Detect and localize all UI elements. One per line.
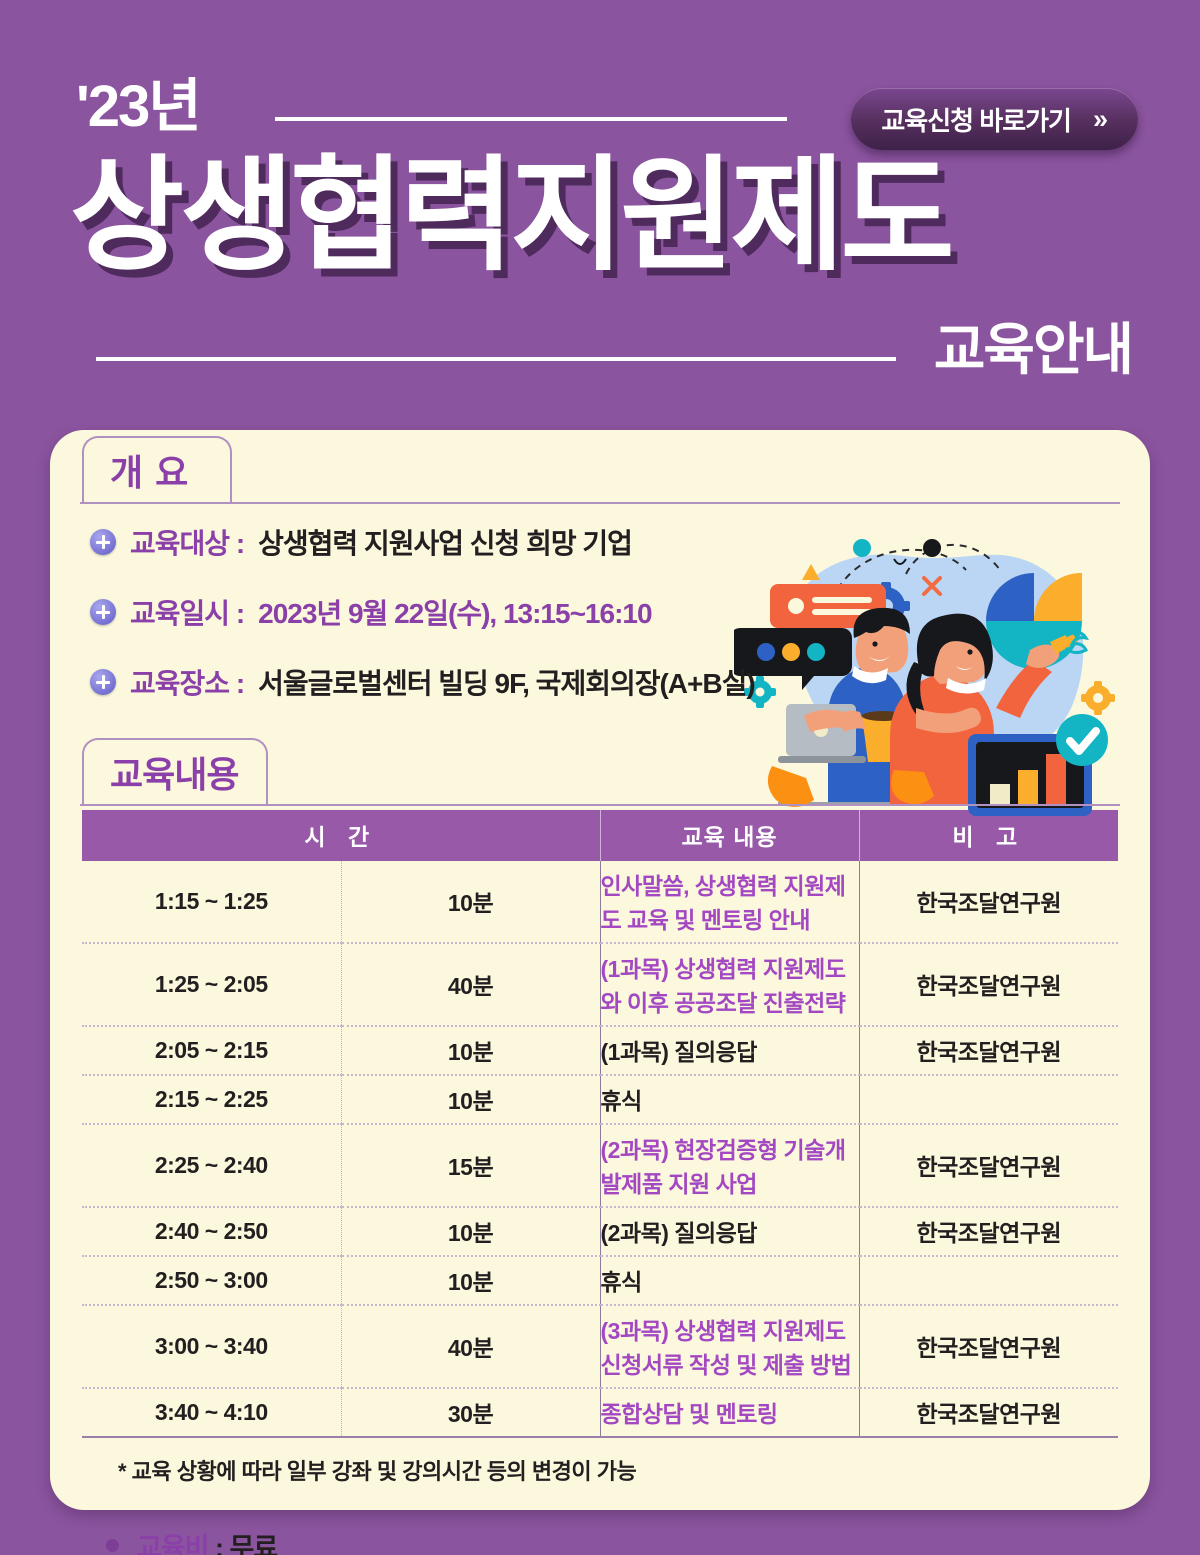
column-header-content: 교육 내용 xyxy=(600,810,859,861)
poster-title: 상생협력지원제도 xyxy=(70,150,951,284)
overview-row-target: 교육대상 : 상생협력 지원사업 신청 희망 기업 xyxy=(90,522,1110,562)
plus-circle-icon xyxy=(90,669,116,695)
overview-list: 교육대상 : 상생협력 지원사업 신청 희망 기업 교육일시 : 2023년 9… xyxy=(50,522,1150,702)
cell-content: (2과목) 현장검증형 기술개발제품 지원 사업 xyxy=(600,1124,859,1207)
table-header-row: 시 간 교육 내용 비 고 xyxy=(82,810,1118,861)
education-apply-label: 교육신청 바로가기 xyxy=(881,101,1071,138)
header-divider-top xyxy=(275,117,787,121)
table-row: 2:25 ~ 2:40 15분 (2과목) 현장검증형 기술개발제품 지원 사업… xyxy=(82,1124,1118,1207)
cell-duration: 30분 xyxy=(341,1388,600,1437)
cell-duration: 40분 xyxy=(341,1305,600,1388)
cell-content: 휴식 xyxy=(600,1256,859,1305)
cell-content: (2과목) 질의응답 xyxy=(600,1207,859,1256)
poster-root: '23년 교육신청 바로가기 » 상생협력지원제도 교육안내 개 요 교육대상 … xyxy=(0,0,1200,1555)
overview-label-target: 교육대상 : xyxy=(130,522,244,562)
cell-content: (1과목) 상생협력 지원제도와 이후 공공조달 진출전략 xyxy=(600,943,859,1026)
cell-note: 한국조달연구원 xyxy=(859,1207,1118,1256)
benefit-fee-title: 교육비 : 무료 xyxy=(137,1526,277,1555)
cell-note xyxy=(859,1075,1118,1124)
curriculum-section-header: 교육내용 xyxy=(80,732,1120,806)
cell-time: 2:50 ~ 3:00 xyxy=(82,1256,341,1305)
overview-underline xyxy=(80,502,1120,504)
overview-value-venue: 서울글로벌센터 빌딩 9F, 국제회의장(A+B실) xyxy=(258,662,755,702)
plus-circle-icon xyxy=(90,529,116,555)
curriculum-table-wrap: 시 간 교육 내용 비 고 1:15 ~ 1:25 10분 인사말씀, 상생협력… xyxy=(50,810,1150,1486)
cell-note: 한국조달연구원 xyxy=(859,943,1118,1026)
column-header-time: 시 간 xyxy=(82,810,600,861)
poster-subtitle: 교육안내 xyxy=(934,322,1132,378)
curriculum-tab: 교육내용 xyxy=(82,738,268,804)
table-row: 2:05 ~ 2:15 10분 (1과목) 질의응답 한국조달연구원 xyxy=(82,1026,1118,1075)
table-row: 2:40 ~ 2:50 10분 (2과목) 질의응답 한국조달연구원 xyxy=(82,1207,1118,1256)
cell-content: (1과목) 질의응답 xyxy=(600,1026,859,1075)
content-card: 개 요 교육대상 : 상생협력 지원사업 신청 희망 기업 교육일시 : 202… xyxy=(50,430,1150,1510)
cell-duration: 10분 xyxy=(341,861,600,943)
curriculum-table: 시 간 교육 내용 비 고 1:15 ~ 1:25 10분 인사말씀, 상생협력… xyxy=(82,810,1118,1438)
poster-header: '23년 교육신청 바로가기 » 상생협력지원제도 교육안내 xyxy=(0,0,1200,410)
overview-tab-label: 개 요 xyxy=(110,444,189,496)
overview-row-venue: 교육장소 : 서울글로벌센터 빌딩 9F, 국제회의장(A+B실) xyxy=(90,662,1110,702)
cell-note: 한국조달연구원 xyxy=(859,1026,1118,1075)
column-header-note: 비 고 xyxy=(859,810,1118,861)
benefit-row-fee: 교육비 : 무료 xyxy=(106,1526,1150,1555)
cell-content: (3과목) 상생협력 지원제도 신청서류 작성 및 제출 방법 xyxy=(600,1305,859,1388)
cell-time: 2:25 ~ 2:40 xyxy=(82,1124,341,1207)
cell-note: 한국조달연구원 xyxy=(859,861,1118,943)
overview-tab: 개 요 xyxy=(82,436,232,502)
cell-note xyxy=(859,1256,1118,1305)
year-label: '23년 xyxy=(76,78,200,136)
cell-duration: 10분 xyxy=(341,1026,600,1075)
cell-time: 3:00 ~ 3:40 xyxy=(82,1305,341,1388)
curriculum-underline xyxy=(80,804,1120,806)
table-row: 3:40 ~ 4:10 30분 종합상담 및 멘토링 한국조달연구원 xyxy=(82,1388,1118,1437)
overview-section-header: 개 요 xyxy=(80,430,1120,504)
curriculum-table-head: 시 간 교육 내용 비 고 xyxy=(82,810,1118,861)
double-chevron-right-icon: » xyxy=(1093,106,1108,133)
cell-note: 한국조달연구원 xyxy=(859,1388,1118,1437)
cell-time: 2:15 ~ 2:25 xyxy=(82,1075,341,1124)
curriculum-footnote: * 교육 상황에 따라 일부 강좌 및 강의시간 등의 변경이 가능 xyxy=(82,1438,1118,1486)
cell-duration: 10분 xyxy=(341,1075,600,1124)
overview-label-datetime: 교육일시 : xyxy=(130,592,244,632)
overview-row-datetime: 교육일시 : 2023년 9월 22일(수), 13:15~16:10 xyxy=(90,592,1110,632)
education-apply-button[interactable]: 교육신청 바로가기 » xyxy=(851,88,1138,150)
cell-time: 3:40 ~ 4:10 xyxy=(82,1388,341,1437)
table-row: 2:50 ~ 3:00 10분 휴식 xyxy=(82,1256,1118,1305)
curriculum-tab-label: 교육내용 xyxy=(110,746,238,798)
cell-duration: 15분 xyxy=(341,1124,600,1207)
cell-duration: 40분 xyxy=(341,943,600,1026)
cell-time: 1:25 ~ 2:05 xyxy=(82,943,341,1026)
cell-time: 2:40 ~ 2:50 xyxy=(82,1207,341,1256)
benefit-fee-value: : 무료 xyxy=(215,1533,277,1555)
plus-circle-icon xyxy=(90,599,116,625)
header-divider-bottom xyxy=(96,357,896,361)
overview-label-venue: 교육장소 : xyxy=(130,662,244,702)
table-row: 2:15 ~ 2:25 10분 휴식 xyxy=(82,1075,1118,1124)
cell-note: 한국조달연구원 xyxy=(859,1124,1118,1207)
table-row: 1:15 ~ 1:25 10분 인사말씀, 상생협력 지원제도 교육 및 멘토링… xyxy=(82,861,1118,943)
cell-time: 1:15 ~ 1:25 xyxy=(82,861,341,943)
bullet-dot-icon xyxy=(106,1539,119,1552)
cell-note: 한국조달연구원 xyxy=(859,1305,1118,1388)
cell-time: 2:05 ~ 2:15 xyxy=(82,1026,341,1075)
cell-duration: 10분 xyxy=(341,1207,600,1256)
cell-content: 인사말씀, 상생협력 지원제도 교육 및 멘토링 안내 xyxy=(600,861,859,943)
cell-content: 휴식 xyxy=(600,1075,859,1124)
curriculum-table-body: 1:15 ~ 1:25 10분 인사말씀, 상생협력 지원제도 교육 및 멘토링… xyxy=(82,861,1118,1437)
benefits-section: 교육비 : 무료 교육혜택 ① 공공구매제도 및 상생협력 지원제도에 대한 이… xyxy=(50,1486,1150,1555)
benefit-fee-label: 교육비 xyxy=(137,1533,209,1555)
cell-content: 종합상담 및 멘토링 xyxy=(600,1388,859,1437)
table-row: 3:00 ~ 3:40 40분 (3과목) 상생협력 지원제도 신청서류 작성 … xyxy=(82,1305,1118,1388)
table-row: 1:25 ~ 2:05 40분 (1과목) 상생협력 지원제도와 이후 공공조달… xyxy=(82,943,1118,1026)
overview-value-datetime: 2023년 9월 22일(수), 13:15~16:10 xyxy=(258,592,651,632)
cell-duration: 10분 xyxy=(341,1256,600,1305)
overview-value-target: 상생협력 지원사업 신청 희망 기업 xyxy=(258,522,632,562)
